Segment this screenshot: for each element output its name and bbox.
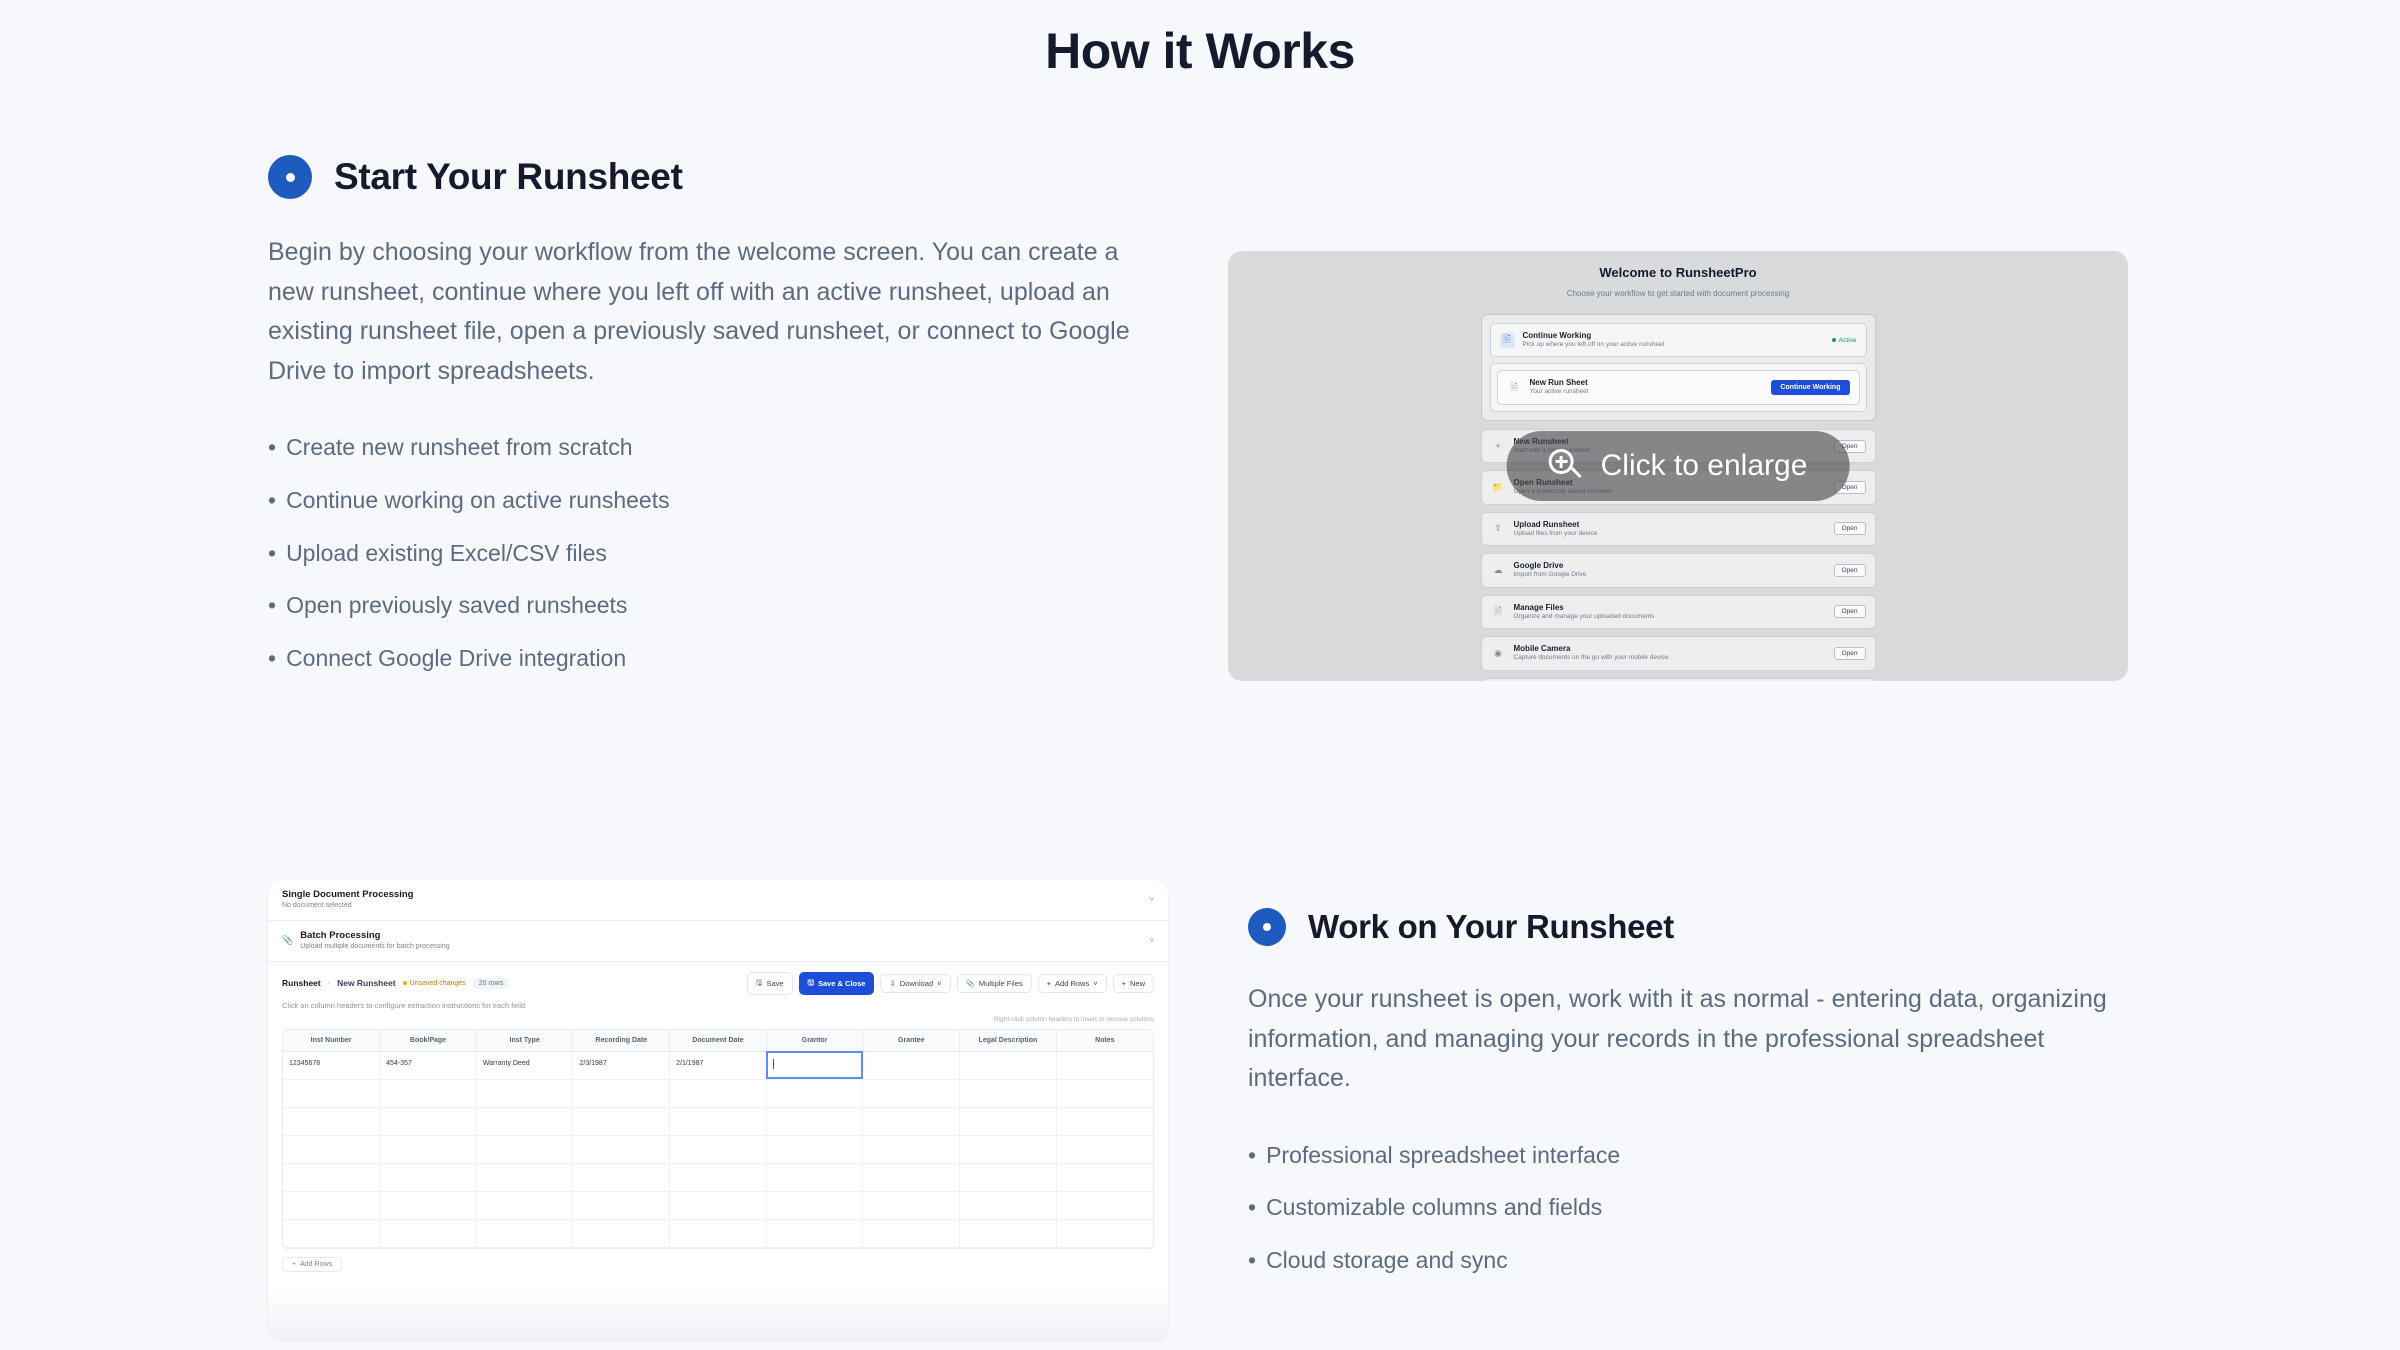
section-2-text-column: Work on Your Runsheet Once your runsheet… <box>1248 880 2128 1340</box>
list-item-label: Cloud storage and sync <box>1266 1247 1508 1273</box>
section-2-body: Once your runsheet is open, work with it… <box>1248 980 2128 1099</box>
cell[interactable] <box>766 1107 863 1135</box>
cell[interactable] <box>863 1191 960 1219</box>
cell[interactable] <box>1056 1191 1153 1219</box>
welcome-options-card: 🖹 Continue Working Pick up where you lef… <box>1481 314 1876 421</box>
list-item: •Open previously saved runsheets <box>268 579 1148 632</box>
plus-icon: + <box>1122 979 1126 988</box>
table-body: 12345678 454-357 Warranty Deed 2/3/1987 … <box>283 1051 1153 1247</box>
cell[interactable] <box>283 1219 380 1247</box>
cell[interactable] <box>863 1219 960 1247</box>
unsaved-changes-label: Unsaved changes <box>410 980 466 987</box>
list-item-label: Open previously saved runsheets <box>286 592 627 618</box>
cell[interactable] <box>283 1079 380 1107</box>
multiple-files-button[interactable]: 📎 Multiple Files <box>957 974 1032 993</box>
section-1-text-column: Start Your Runsheet Begin by choosing yo… <box>268 155 1148 685</box>
cell[interactable] <box>573 1079 670 1107</box>
column-header-grantee[interactable]: Grantee <box>863 1030 960 1052</box>
cell[interactable] <box>863 1051 960 1079</box>
continue-working-text: Continue Working Pick up where you left … <box>1523 331 1824 349</box>
file-icon: 🖹 <box>1491 604 1506 619</box>
click-to-enlarge-label: Click to enlarge <box>1601 449 1808 483</box>
active-runsheet-text: New Run Sheet Your active runsheet <box>1530 378 1764 396</box>
upload-icon: ⇧ <box>1491 521 1506 536</box>
option-open-button[interactable]: Open <box>1834 647 1866 660</box>
section-2-title: Work on Your Runsheet <box>1308 908 1674 946</box>
cell[interactable] <box>380 1191 477 1219</box>
list-item-label: Continue working on active runsheets <box>286 487 670 513</box>
cell[interactable] <box>960 1051 1057 1079</box>
cell[interactable] <box>670 1191 767 1219</box>
save-button-label: Save <box>766 979 783 988</box>
new-button-label: New <box>1130 979 1145 988</box>
column-header-inst-number[interactable]: Inst Number <box>283 1030 380 1052</box>
column-header-hint: Click on column headers to configure ext… <box>268 1001 1168 1016</box>
option-description: Capture documents on the go with your mo… <box>1514 654 1826 662</box>
step-dot-icon <box>268 155 312 199</box>
cell[interactable] <box>670 1135 767 1163</box>
save-close-icon: 🖫 <box>808 977 814 990</box>
cell[interactable] <box>476 1219 573 1247</box>
plus-icon: + <box>1047 979 1051 988</box>
multiple-files-button-label: Multiple Files <box>979 979 1023 988</box>
option-mobile-camera[interactable]: ◉ Mobile Camera Capture documents on the… <box>1481 636 1876 670</box>
list-item-label: Create new runsheet from scratch <box>286 434 632 460</box>
download-button-label: Download <box>900 979 933 988</box>
cell[interactable] <box>670 1219 767 1247</box>
breadcrumb-root[interactable]: Runsheet <box>282 978 321 988</box>
cell[interactable] <box>1056 1107 1153 1135</box>
table-header-row: Inst Number Book/Page Inst Type Recordin… <box>283 1030 1153 1052</box>
column-header-document-date[interactable]: Document Date <box>670 1030 767 1052</box>
chevron-down-icon[interactable]: ˅ <box>1149 936 1154 945</box>
cell[interactable] <box>960 1219 1057 1247</box>
column-header-legal-description[interactable]: Legal Description <box>960 1030 1057 1052</box>
list-item: •Customizable columns and fields <box>1248 1181 2128 1234</box>
list-item: •Continue working on active runsheets <box>268 474 1148 527</box>
cell[interactable]: 2/3/1987 <box>573 1051 670 1079</box>
welcome-screen-preview[interactable]: Welcome to RunsheetPro Choose your workf… <box>1228 251 2128 681</box>
cell[interactable]: 454-357 <box>380 1051 477 1079</box>
breadcrumb: Runsheet › New Runsheet Unsaved changes … <box>282 978 509 989</box>
cell[interactable] <box>476 1107 573 1135</box>
batch-title: Batch Processing <box>300 930 1142 942</box>
list-item: •Upload existing Excel/CSV files <box>268 527 1148 580</box>
cell[interactable]: 2/1/1987 <box>670 1051 767 1079</box>
bullet-marker: • <box>268 592 276 618</box>
cell[interactable] <box>1056 1051 1153 1079</box>
cell[interactable] <box>960 1107 1057 1135</box>
section-1-bullets: •Create new runsheet from scratch •Conti… <box>268 421 1148 685</box>
camera-icon: ◉ <box>1491 646 1506 661</box>
step-dot-icon <box>1248 908 1286 946</box>
cell[interactable] <box>476 1191 573 1219</box>
option-description: Organize and manage your uploaded docume… <box>1514 613 1826 621</box>
section-1-title: Start Your Runsheet <box>334 156 683 198</box>
cell[interactable] <box>766 1219 863 1247</box>
list-item: •Professional spreadsheet interface <box>1248 1129 2128 1182</box>
cell[interactable] <box>283 1163 380 1191</box>
table-row <box>283 1219 1153 1247</box>
list-item: •Cloud storage and sync <box>1248 1234 2128 1287</box>
cell[interactable] <box>573 1107 670 1135</box>
batch-description: Upload multiple documents for batch proc… <box>300 942 1142 951</box>
cell[interactable] <box>380 1107 477 1135</box>
page-title: How it Works <box>0 0 2400 80</box>
paperclip-icon: 📎 <box>282 935 293 946</box>
cell[interactable] <box>380 1163 477 1191</box>
column-header-recording-date[interactable]: Recording Date <box>573 1030 670 1052</box>
batch-processing-section[interactable]: 📎 Batch Processing Upload multiple docum… <box>268 921 1168 962</box>
chevron-down-icon: ˅ <box>937 979 941 988</box>
option-open-button[interactable]: Open <box>1834 605 1866 618</box>
option-open-button[interactable]: Open <box>1834 522 1866 535</box>
add-rows-footer-label: Add Rows <box>300 1261 332 1268</box>
bullet-marker: • <box>1248 1142 1256 1168</box>
cell[interactable] <box>283 1107 380 1135</box>
add-rows-button[interactable]: + Add Rows ˅ <box>1038 974 1107 993</box>
cell[interactable] <box>1056 1079 1153 1107</box>
bullet-marker: • <box>1248 1247 1256 1273</box>
list-item: •Create new runsheet from scratch <box>268 421 1148 474</box>
table-row <box>283 1079 1153 1107</box>
continue-working-button[interactable]: Continue Working <box>1771 380 1849 395</box>
status-badge-label: Active <box>1839 337 1857 344</box>
step-dot-inner <box>1263 923 1271 931</box>
option-upload-runsheet[interactable]: ⇧ Upload Runsheet Upload files from your… <box>1481 512 1876 546</box>
toolbar-buttons: 🖫 Save 🖫 Save & Close ⇩ Download ˅ 📎 <box>747 972 1154 995</box>
option-text: Google Drive Import from Google Drive <box>1514 561 1826 579</box>
cell[interactable] <box>573 1135 670 1163</box>
active-runsheet-row[interactable]: 🖹 New Run Sheet Your active runsheet Con… <box>1497 370 1860 404</box>
continue-working-row[interactable]: 🖹 Continue Working Pick up where you lef… <box>1490 323 1867 357</box>
list-item-label: Customizable columns and fields <box>1266 1194 1602 1220</box>
status-badge: Active <box>1832 337 1857 344</box>
cell[interactable] <box>960 1163 1057 1191</box>
continue-working-description: Pick up where you left off on your activ… <box>1523 341 1824 349</box>
section-work-on-your-runsheet: Single Document Processing No document s… <box>268 880 2128 1340</box>
option-description: Upload files from your device <box>1514 530 1826 538</box>
spreadsheet-preview[interactable]: Single Document Processing No document s… <box>268 880 1168 1340</box>
section-1-header: Start Your Runsheet <box>268 155 1148 199</box>
option-title: Upload Runsheet <box>1514 520 1826 530</box>
option-google-drive[interactable]: ☁ Google Drive Import from Google Drive … <box>1481 553 1876 587</box>
table-row <box>283 1191 1153 1219</box>
cell[interactable] <box>670 1107 767 1135</box>
cell[interactable] <box>863 1163 960 1191</box>
how-it-works-page: How it Works Start Your Runsheet Begin b… <box>0 0 2400 1350</box>
save-and-close-button-label: Save & Close <box>818 979 866 988</box>
section-start-your-runsheet: Start Your Runsheet Begin by choosing yo… <box>268 155 2128 685</box>
magnifier-plus-icon <box>1549 449 1583 483</box>
cell[interactable] <box>1056 1219 1153 1247</box>
cell[interactable] <box>863 1107 960 1135</box>
cell[interactable] <box>863 1079 960 1107</box>
bullet-marker: • <box>1248 1194 1256 1220</box>
batch-text: Batch Processing Upload multiple documen… <box>300 930 1142 952</box>
chevron-down-icon[interactable]: ˅ <box>1149 895 1154 904</box>
cell[interactable] <box>476 1135 573 1163</box>
column-header-notes[interactable]: Notes <box>1056 1030 1153 1052</box>
row-count-badge: 20 rows <box>473 978 510 989</box>
single-doc-description: No document selected <box>282 901 1142 910</box>
cell[interactable] <box>573 1219 670 1247</box>
list-item-label: Upload existing Excel/CSV files <box>286 540 607 566</box>
cell[interactable] <box>960 1135 1057 1163</box>
active-runsheet-title: New Run Sheet <box>1530 378 1764 388</box>
option-description: Import from Google Drive <box>1514 571 1826 579</box>
chevron-down-icon: ˅ <box>1093 979 1097 988</box>
runsheet-grid[interactable]: Inst Number Book/Page Inst Type Recordin… <box>282 1029 1154 1249</box>
option-text: Mobile Camera Capture documents on the g… <box>1514 644 1826 662</box>
save-and-close-button[interactable]: 🖫 Save & Close <box>799 972 875 995</box>
section-1-body: Begin by choosing your workflow from the… <box>268 233 1148 391</box>
add-rows-footer-button[interactable]: + Add Rows <box>282 1257 342 1272</box>
cell[interactable] <box>766 1135 863 1163</box>
unsaved-changes-badge: Unsaved changes <box>403 980 466 987</box>
file-icon: 🖹 <box>1500 333 1515 348</box>
bullet-marker: • <box>268 434 276 460</box>
option-manage-files[interactable]: 🖹 Manage Files Organize and manage your … <box>1481 595 1876 629</box>
cell[interactable] <box>670 1079 767 1107</box>
cell[interactable] <box>960 1191 1057 1219</box>
option-title: Google Drive <box>1514 561 1826 571</box>
cell-selected[interactable] <box>766 1051 863 1079</box>
plus-icon: + <box>1491 439 1506 454</box>
folder-icon: 📁 <box>1491 480 1506 495</box>
list-item-label: Professional spreadsheet interface <box>1266 1142 1620 1168</box>
section-2-header: Work on Your Runsheet <box>1248 908 2128 946</box>
unsaved-dot-icon <box>403 981 407 985</box>
cell[interactable] <box>863 1135 960 1163</box>
cell[interactable] <box>380 1079 477 1107</box>
cell[interactable] <box>573 1191 670 1219</box>
cell[interactable] <box>766 1079 863 1107</box>
files-icon: 📎 <box>966 979 975 988</box>
breadcrumb-separator: › <box>328 980 330 987</box>
cell[interactable]: 12345678 <box>283 1051 380 1079</box>
table-row <box>283 1107 1153 1135</box>
cell[interactable] <box>380 1135 477 1163</box>
cell[interactable] <box>283 1135 380 1163</box>
add-rows-button-label: Add Rows <box>1055 979 1089 988</box>
table-row: 12345678 454-357 Warranty Deed 2/3/1987 … <box>283 1051 1153 1079</box>
breadcrumb-current: New Runsheet <box>337 978 396 988</box>
right-click-hint: Right-click column headers to insert or … <box>268 1016 1168 1029</box>
step-dot-inner <box>286 173 295 182</box>
cell[interactable] <box>766 1163 863 1191</box>
list-item: •Connect Google Drive integration <box>268 632 1148 685</box>
single-doc-text: Single Document Processing No document s… <box>282 889 1142 911</box>
new-button[interactable]: + New <box>1113 974 1154 993</box>
active-runsheet-description: Your active runsheet <box>1530 388 1764 396</box>
single-doc-title: Single Document Processing <box>282 889 1142 901</box>
single-document-processing-section[interactable]: Single Document Processing No document s… <box>268 880 1168 921</box>
status-dot-icon <box>1832 338 1836 342</box>
option-text: Upload Runsheet Upload files from your d… <box>1514 520 1826 538</box>
option-text: Manage Files Organize and manage your up… <box>1514 603 1826 621</box>
section-2-bullets: •Professional spreadsheet interface •Cus… <box>1248 1129 2128 1287</box>
option-title: Mobile Camera <box>1514 644 1826 654</box>
click-to-enlarge-overlay[interactable]: Click to enlarge <box>1507 431 1850 501</box>
option-column-preferences[interactable]: ▦ Column Preferences Customize your defa… <box>1481 678 1876 682</box>
list-item-label: Connect Google Drive integration <box>286 645 626 671</box>
cell[interactable] <box>766 1191 863 1219</box>
cloud-icon: ☁ <box>1491 563 1506 578</box>
cell[interactable] <box>476 1163 573 1191</box>
plus-icon: + <box>292 1261 296 1268</box>
download-button[interactable]: ⇩ Download ˅ <box>880 974 950 993</box>
column-header-grantor[interactable]: Grantor <box>766 1030 863 1052</box>
cell[interactable]: Warranty Deed <box>476 1051 573 1079</box>
column-header-book-page[interactable]: Book/Page <box>380 1030 477 1052</box>
continue-working-title: Continue Working <box>1523 331 1824 341</box>
cell[interactable] <box>573 1163 670 1191</box>
active-runsheet-card: 🖹 New Run Sheet Your active runsheet Con… <box>1490 363 1867 411</box>
table-row <box>283 1163 1153 1191</box>
option-open-button[interactable]: Open <box>1834 564 1866 577</box>
cell[interactable] <box>960 1079 1057 1107</box>
bottom-fade <box>268 1288 1168 1340</box>
runsheet-toolbar: Runsheet › New Runsheet Unsaved changes … <box>268 962 1168 1001</box>
welcome-heading: Welcome to RunsheetPro <box>1228 265 2128 280</box>
document-icon: 🖹 <box>1507 380 1522 395</box>
option-title: Manage Files <box>1514 603 1826 613</box>
cell[interactable] <box>1056 1163 1153 1191</box>
table-row <box>283 1135 1153 1163</box>
cell[interactable] <box>1056 1135 1153 1163</box>
column-header-inst-type[interactable]: Inst Type <box>476 1030 573 1052</box>
save-icon: 🖫 <box>756 977 762 990</box>
save-button[interactable]: 🖫 Save <box>747 972 793 995</box>
bullet-marker: • <box>268 645 276 671</box>
cell[interactable] <box>283 1191 380 1219</box>
welcome-subheading: Choose your workflow to get started with… <box>1228 289 2128 298</box>
bullet-marker: • <box>268 487 276 513</box>
bullet-marker: • <box>268 540 276 566</box>
cell[interactable] <box>476 1079 573 1107</box>
cell[interactable] <box>670 1163 767 1191</box>
cell[interactable] <box>380 1219 477 1247</box>
download-icon: ⇩ <box>889 979 895 988</box>
